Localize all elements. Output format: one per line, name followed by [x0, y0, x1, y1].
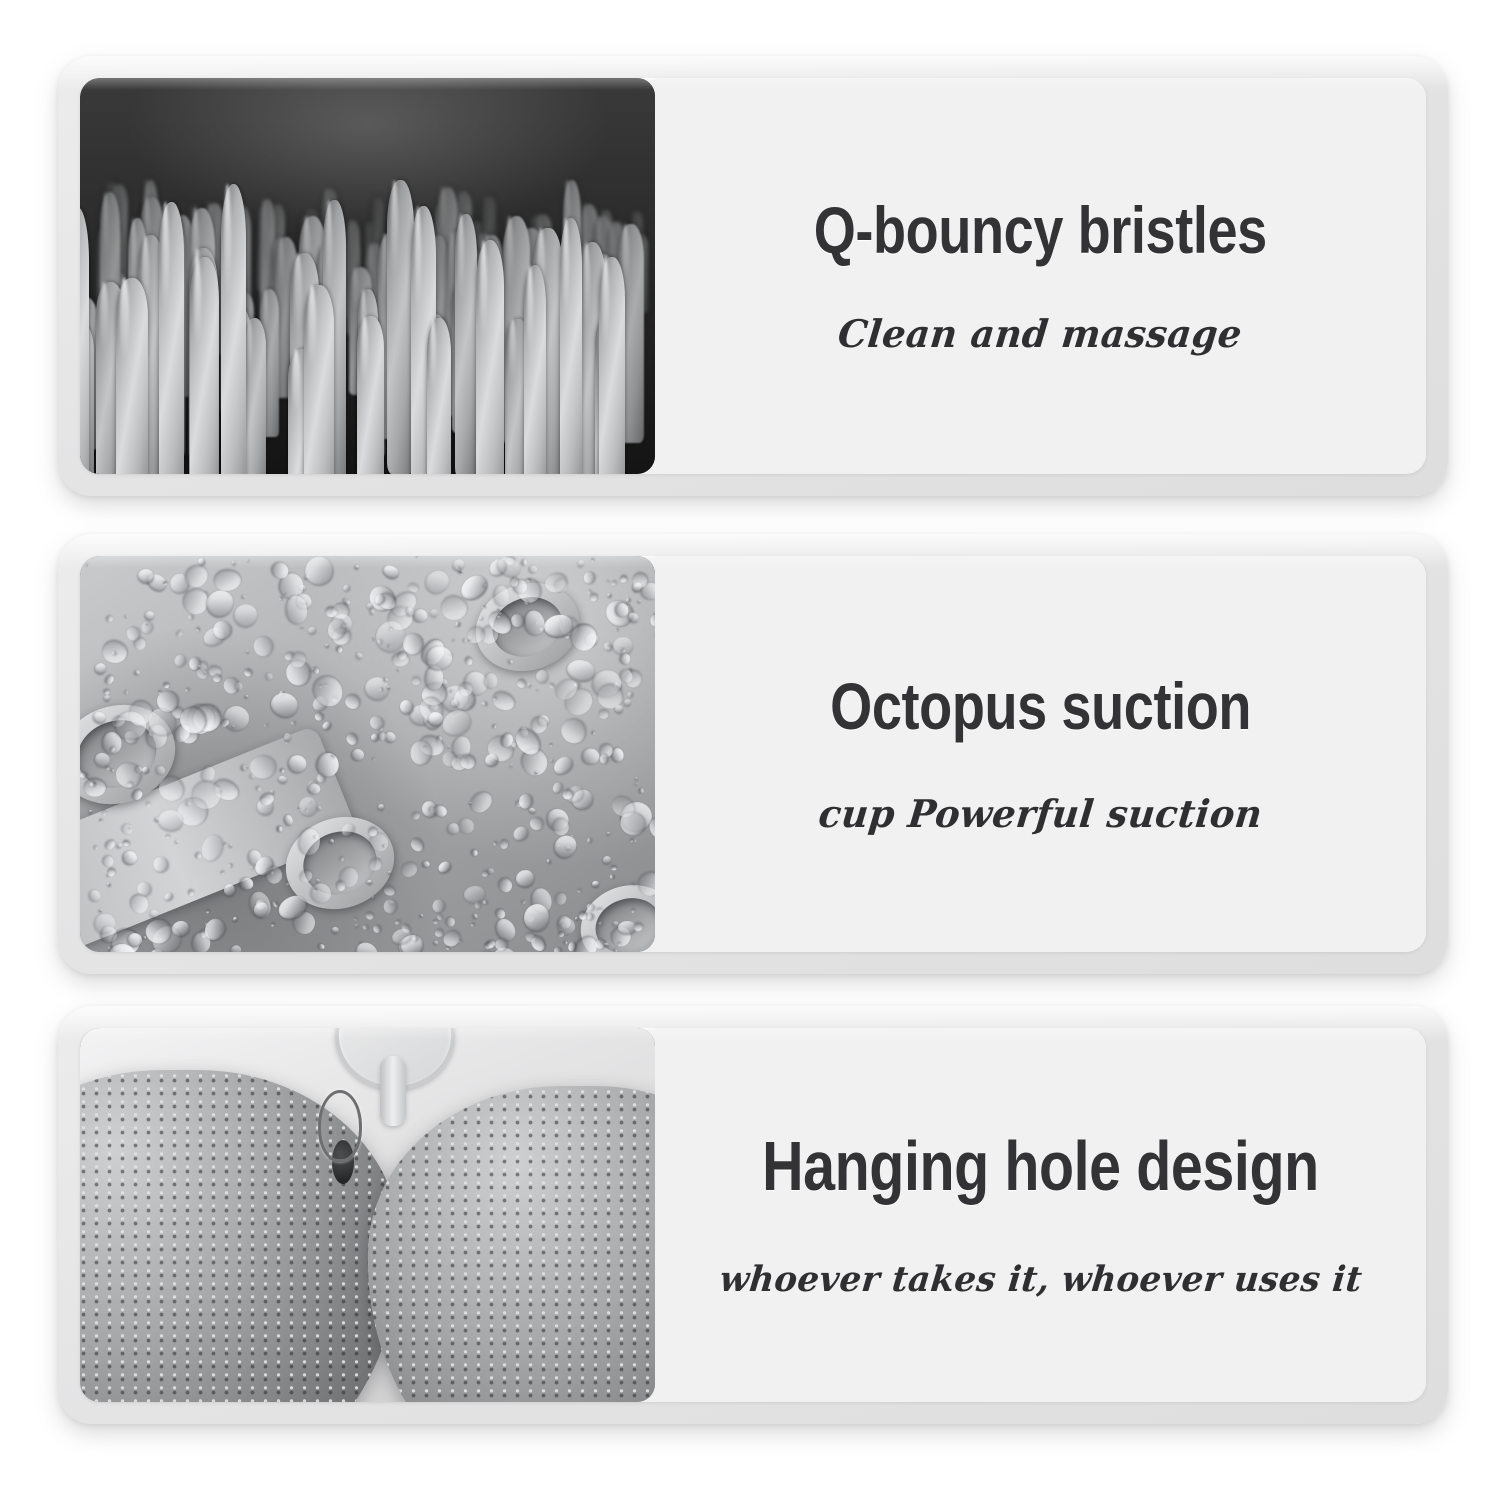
card-subtitle: cup Powerful suction: [816, 791, 1264, 836]
card-panel: Q-bouncy bristles Clean and massage: [80, 78, 1426, 474]
card-text-block: Q-bouncy bristles Clean and massage: [655, 78, 1426, 474]
feature-card-hanging-hole-design: Hanging hole design whoever takes it, wh…: [58, 1006, 1448, 1424]
feature-image-hanging-hole: [80, 1028, 655, 1402]
card-title: Octopus suction: [830, 672, 1251, 741]
feature-image-silicone-bristles: [80, 78, 655, 474]
card-subtitle: whoever takes it, whoever uses it: [717, 1259, 1363, 1300]
card-title: Q-bouncy bristles: [814, 196, 1267, 265]
card-panel: Hanging hole design whoever takes it, wh…: [80, 1028, 1426, 1402]
card-panel: Octopus suction cup Powerful suction: [80, 556, 1426, 952]
scrubber-hanging-hole-hook-photo: [80, 1028, 655, 1402]
silicone-bristles-macro-photo: [80, 78, 655, 474]
card-text-block: Hanging hole design whoever takes it, wh…: [655, 1028, 1426, 1402]
product-feature-card-list: Q-bouncy bristles Clean and massage Octo…: [0, 0, 1500, 1500]
card-text-block: Octopus suction cup Powerful suction: [655, 556, 1426, 952]
feature-card-q-bouncy-bristles: Q-bouncy bristles Clean and massage: [58, 56, 1448, 496]
card-subtitle: Clean and massage: [836, 311, 1244, 356]
feature-card-octopus-suction: Octopus suction cup Powerful suction: [58, 534, 1448, 974]
feature-image-water-droplets: [80, 556, 655, 952]
card-title: Hanging hole design: [762, 1130, 1319, 1203]
water-droplets-suction-cups-photo: [80, 556, 655, 952]
